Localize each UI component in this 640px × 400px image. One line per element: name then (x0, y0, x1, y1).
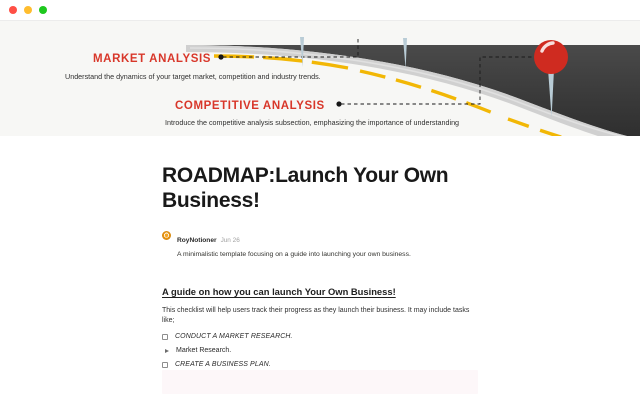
chevron-right-icon[interactable] (165, 349, 169, 353)
hero-callout-title: COMPETITIVE ANALYSIS (175, 100, 459, 112)
hero-callout-title: MARKET ANALYSIS (93, 53, 321, 65)
checklist-item[interactable]: CREATE A BUSINESS PLAN. (162, 361, 478, 368)
checklist-item[interactable]: CONDUCT A MARKET RESEARCH. (162, 333, 478, 340)
section-paragraph: This checklist will help users track the… (162, 306, 480, 326)
byline: RoyNotionerJun 26 A minimalistic templat… (162, 230, 478, 260)
document-summary: A minimalistic template focusing on a gu… (177, 251, 411, 260)
toggle-list-item-label: Market Research. (176, 347, 231, 354)
window-minimize-button[interactable] (24, 6, 32, 14)
hero-banner: MARKET ANALYSIS Understand the dynamics … (0, 21, 640, 136)
author-name: RoyNotioner (177, 237, 217, 244)
checklist-item-label: CREATE A BUSINESS PLAN. (175, 361, 271, 368)
checkbox-icon[interactable] (162, 362, 168, 368)
page-title: ROADMAP:Launch Your Own Business! (162, 164, 478, 213)
publish-date: Jun 26 (221, 237, 240, 244)
document-body: ROADMAP:Launch Your Own Business! RoyNot… (0, 136, 640, 400)
hero-callout-body: Understand the dynamics of your target m… (65, 72, 321, 82)
section-heading: A guide on how you can launch Your Own B… (162, 286, 478, 297)
hero-callout-market-analysis: MARKET ANALYSIS Understand the dynamics … (93, 53, 321, 82)
window-titlebar (0, 0, 640, 21)
window-maximize-button[interactable] (39, 6, 47, 14)
toggle-list-item[interactable]: Market Research. (165, 347, 478, 354)
highlight-block (162, 370, 478, 394)
hero-callout-competitive-analysis: COMPETITIVE ANALYSIS Introduce the compe… (175, 100, 459, 128)
window-close-button[interactable] (9, 6, 17, 14)
avatar (162, 231, 171, 240)
checkbox-icon[interactable] (162, 334, 168, 340)
hero-callout-body: Introduce the competitive analysis subse… (165, 118, 459, 128)
checklist-item-label: CONDUCT A MARKET RESEARCH. (175, 333, 293, 340)
